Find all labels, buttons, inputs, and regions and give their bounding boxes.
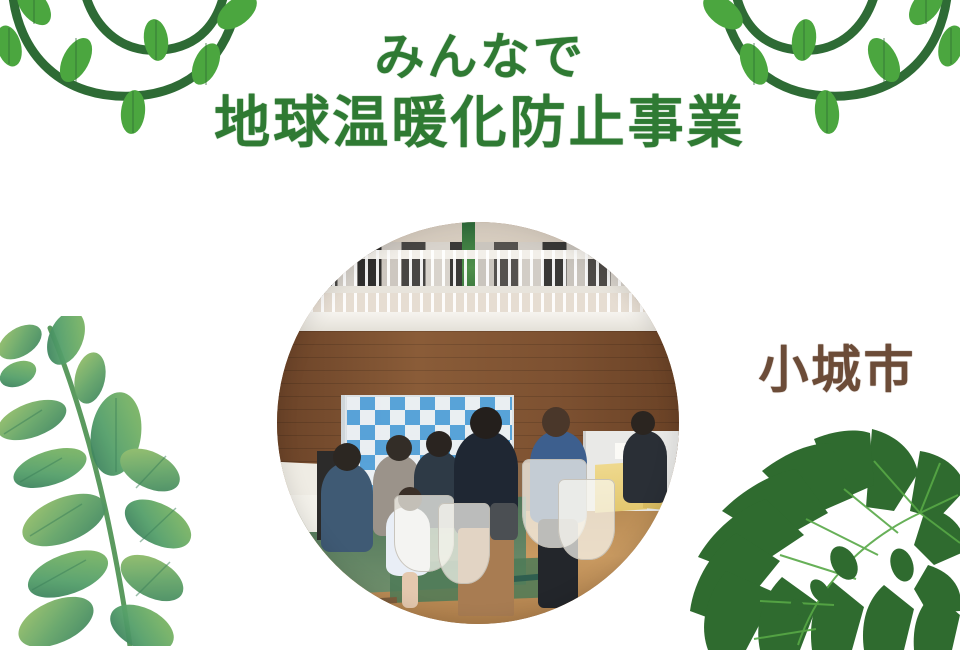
title-line-2: 地球温暖化防止事業: [0, 92, 960, 157]
photo-child-legs: [402, 572, 418, 608]
photo-person-head-3: [426, 431, 452, 457]
photo-person-center-head: [470, 407, 502, 439]
photo-left-box: [281, 495, 317, 531]
photo-shoulder-bag: [490, 503, 518, 539]
photo-person-far-right-head: [631, 411, 655, 435]
monstera-leaf-icon: [688, 415, 960, 650]
poster-title: みんなで 地球温暖化防止事業: [0, 28, 960, 157]
city-name-label: 小城市: [759, 330, 917, 402]
photo-plastic-bag-2: [438, 503, 490, 583]
title-line-1: みんなで: [0, 28, 960, 86]
photo-person-blue-jacket: [321, 463, 373, 551]
photo-balcony-ledge: [277, 312, 679, 332]
photo-person-head-2: [386, 435, 412, 461]
watercolor-branch-icon: [0, 316, 240, 646]
photo-plastic-bag-4: [558, 479, 614, 559]
event-photo-circle: [277, 222, 679, 624]
photo-balcony-railing: [277, 250, 679, 314]
photo-railing-mid-rail: [277, 286, 679, 292]
poster-canvas: { "page": { "background_color": "#ffffff…: [0, 0, 960, 640]
photo-person-far-right: [623, 431, 667, 503]
